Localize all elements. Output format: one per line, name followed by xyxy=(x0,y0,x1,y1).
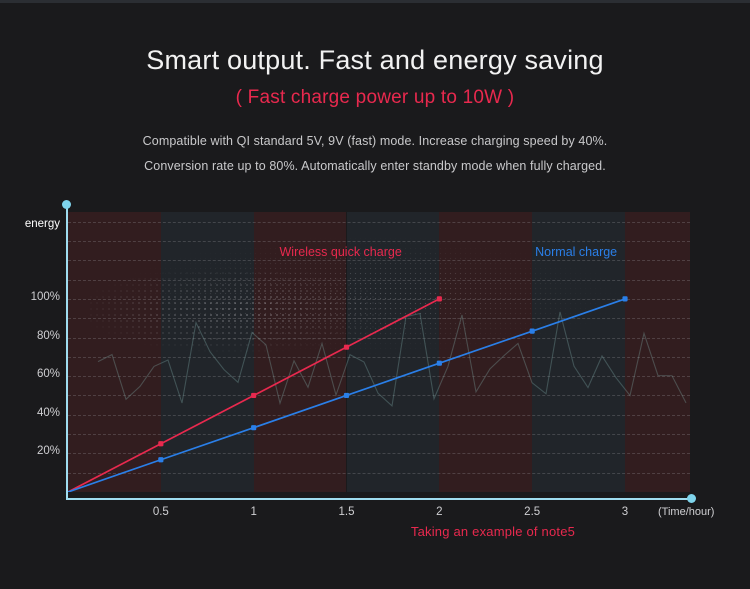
y-tick-label: 60% xyxy=(37,368,60,380)
data-point-marker xyxy=(344,393,349,398)
x-tick-label: 1 xyxy=(234,506,274,518)
data-point-marker xyxy=(158,457,163,462)
header: Smart output. Fast and energy saving ( F… xyxy=(0,0,750,179)
x-tick-label: 1.5 xyxy=(327,506,367,518)
x-tick-label: 0.5 xyxy=(141,506,181,518)
x-tick-label: 2.5 xyxy=(512,506,552,518)
y-tick-label: 80% xyxy=(37,330,60,342)
description: Compatible with QI standard 5V, 9V (fast… xyxy=(0,129,750,179)
x-tick-label: 2 xyxy=(419,506,459,518)
background-zigzag-trace xyxy=(98,312,686,406)
data-point-marker xyxy=(251,425,256,430)
charging-speed-chart: 20%40%60%80%100%energy 0.511.522.53 (Tim… xyxy=(0,190,750,550)
page-title: Smart output. Fast and energy saving xyxy=(0,44,750,78)
x-axis-cap-dot-icon xyxy=(687,494,696,503)
y-axis-title: energy xyxy=(25,218,60,230)
x-axis xyxy=(67,498,691,500)
x-tick-label: 3 xyxy=(605,506,645,518)
description-line-2: Conversion rate up to 80%. Automatically… xyxy=(0,154,750,179)
y-axis xyxy=(66,204,68,500)
data-point-marker xyxy=(437,361,442,366)
chart-footnote: Taking an example of note5 xyxy=(0,524,750,539)
description-line-1: Compatible with QI standard 5V, 9V (fast… xyxy=(0,129,750,154)
y-tick-label: 20% xyxy=(37,445,60,457)
y-tick-label: 100% xyxy=(31,291,60,303)
page-subtitle: ( Fast charge power up to 10W ) xyxy=(0,87,750,109)
data-point-marker xyxy=(622,296,627,301)
y-axis-cap-dot-icon xyxy=(62,200,71,209)
x-axis-unit-label: (Time/hour) xyxy=(658,506,714,518)
legend-wireless-quick-charge: Wireless quick charge xyxy=(280,245,402,259)
data-point-marker xyxy=(158,441,163,446)
data-point-marker xyxy=(251,393,256,398)
data-point-marker xyxy=(530,329,535,334)
data-point-marker xyxy=(437,296,442,301)
y-tick-label: 40% xyxy=(37,407,60,419)
chart-footnote-text: Taking an example of note5 xyxy=(411,524,575,539)
legend-normal-charge: Normal charge xyxy=(535,245,617,259)
data-point-marker xyxy=(344,345,349,350)
